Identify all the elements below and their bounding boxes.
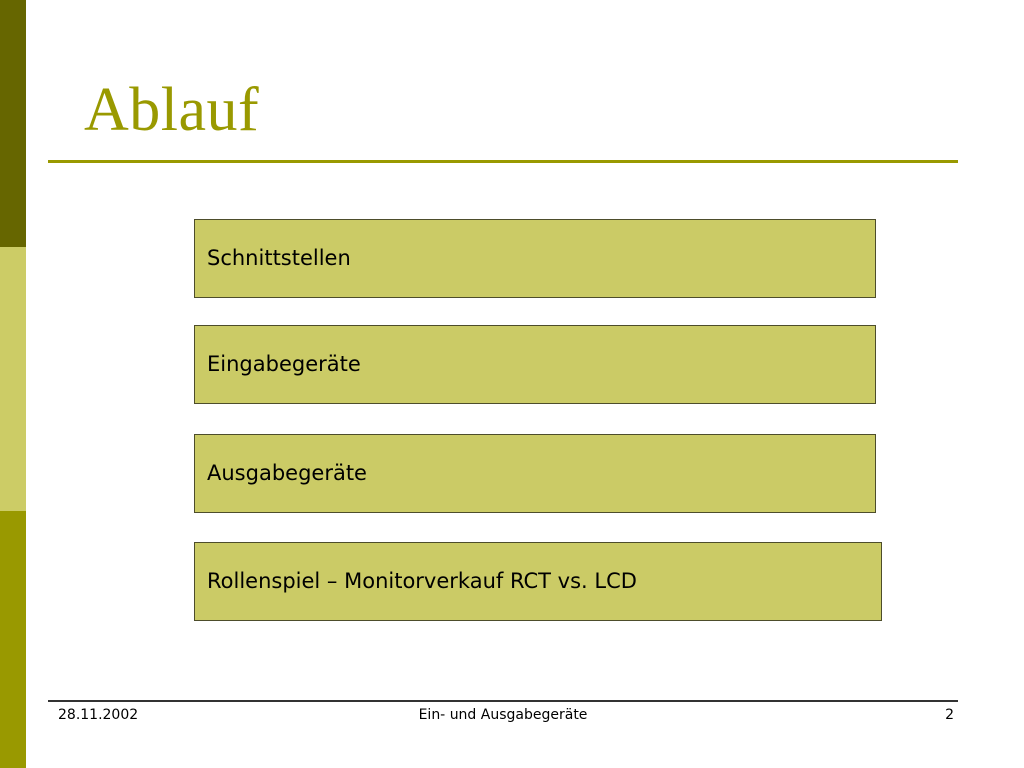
agenda-box-eingabegeraete[interactable]: Eingabegeräte xyxy=(194,325,876,404)
agenda-box-ausgabegeraete[interactable]: Ausgabegeräte xyxy=(194,434,876,513)
agenda-box-schnittstellen[interactable]: Schnittstellen xyxy=(194,219,876,298)
slide-sidebar-decoration xyxy=(0,0,26,768)
agenda-box-list: Schnittstellen Eingabegeräte Ausgabegerä… xyxy=(194,219,876,621)
sidebar-band-top xyxy=(0,0,26,247)
footer-divider-rule xyxy=(48,700,958,702)
sidebar-band-middle xyxy=(0,247,26,511)
slide-title: Ablauf xyxy=(84,78,259,143)
footer-title: Ein- und Ausgabegeräte xyxy=(48,704,958,726)
agenda-box-label: Eingabegeräte xyxy=(207,352,361,377)
title-underline-rule xyxy=(48,160,958,163)
agenda-box-rollenspiel[interactable]: Rollenspiel – Monitorverkauf RCT vs. LCD xyxy=(194,542,882,621)
agenda-box-label: Rollenspiel – Monitorverkauf RCT vs. LCD xyxy=(207,569,637,594)
agenda-box-label: Schnittstellen xyxy=(207,246,351,271)
footer-page-number: 2 xyxy=(945,704,954,726)
agenda-box-label: Ausgabegeräte xyxy=(207,461,367,486)
presentation-slide: Ablauf Schnittstellen Eingabegeräte Ausg… xyxy=(0,0,1024,768)
sidebar-band-bottom xyxy=(0,511,26,768)
slide-footer: 28.11.2002 Ein- und Ausgabegeräte 2 xyxy=(48,704,958,728)
